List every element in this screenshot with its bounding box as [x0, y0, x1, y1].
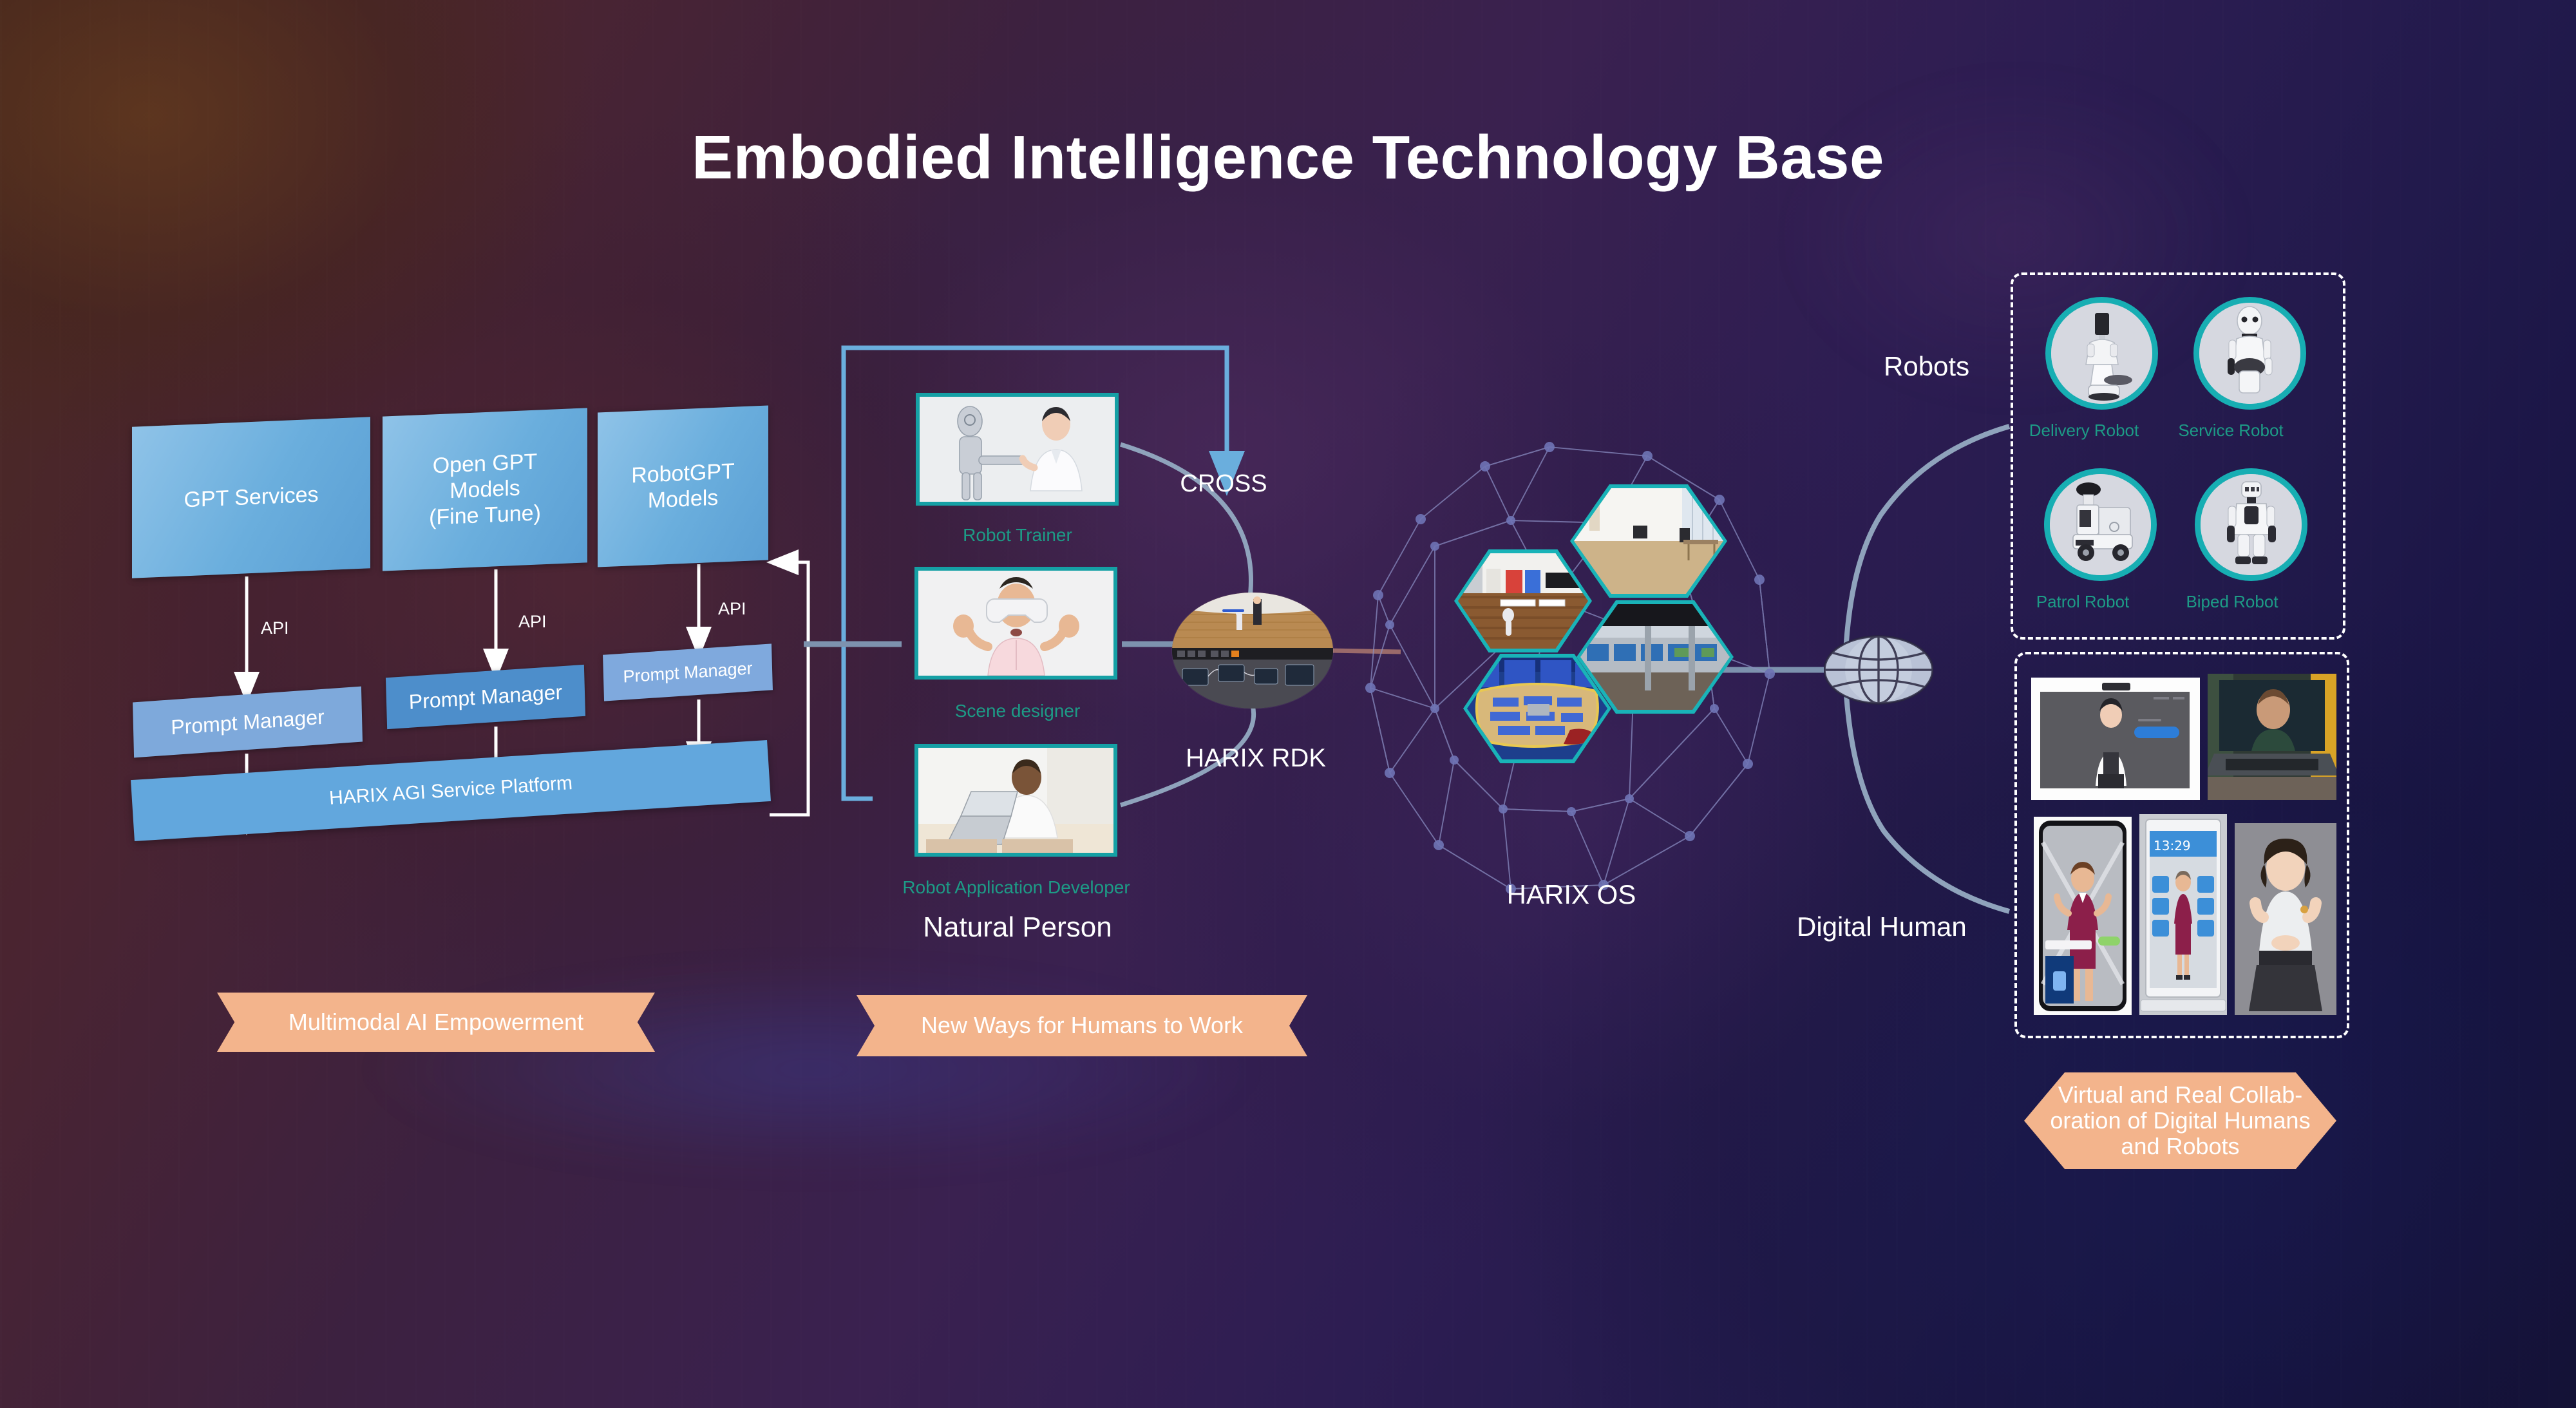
natural-person-group-label: Natural Person	[882, 911, 1153, 944]
svg-text:13:29: 13:29	[2154, 838, 2191, 853]
ribbon-multimodal-ai-empowerment[interactable]: Multimodal AI Empowerment	[217, 993, 655, 1052]
ribbon-virtual-real-collaboration[interactable]: Virtual and Real Collab- oration of Digi…	[2024, 1072, 2336, 1169]
robot-label-patrol-robot: Patrol Robot	[2005, 592, 2160, 612]
robot-thumb-patrol-robot[interactable]	[2044, 468, 2157, 581]
role-photo-robot-trainer[interactable]	[916, 393, 1119, 506]
source-box-gpt-services[interactable]: GPT Services	[132, 417, 370, 578]
digital-human-group-label: Digital Human	[1797, 911, 1967, 942]
globe-icon	[1824, 615, 1933, 725]
source-box-open-gpt-models[interactable]: Open GPT Models (Fine Tune)	[383, 408, 587, 571]
api-label: API	[518, 612, 547, 632]
api-label: API	[261, 618, 289, 638]
harix-os-label: HARIX OS	[1372, 879, 1771, 910]
dh-tile-casual-avatar[interactable]	[2235, 823, 2336, 1015]
role-label-scene-designer: Scene designer	[882, 701, 1153, 721]
source-label: GPT Services	[184, 482, 318, 513]
source-box-robotgpt-models[interactable]: RobotGPT Models	[598, 405, 768, 567]
prompt-manager-label: Prompt Manager	[171, 705, 325, 739]
role-label-robot-trainer: Robot Trainer	[882, 525, 1153, 546]
ribbon-text: Virtual and Real Collab- oration of Digi…	[2024, 1082, 2336, 1160]
ribbon-text: New Ways for Humans to Work	[921, 1013, 1243, 1038]
role-label-robot-application-developer: Robot Application Developer	[881, 877, 1151, 898]
prompt-manager-label: Prompt Manager	[623, 658, 753, 687]
dh-tile-standing-kiosk-avatar[interactable]: 13:29	[2139, 814, 2227, 1015]
robot-thumb-biped-robot[interactable]	[2195, 468, 2307, 581]
robot-label-delivery-robot: Delivery Robot	[2007, 421, 2161, 441]
slide-canvas: Embodied Intelligence Technology Base	[0, 0, 2576, 1408]
robots-group-label: Robots	[1884, 351, 1969, 382]
dh-tile-laptop-video-avatar[interactable]	[2208, 674, 2336, 800]
robot-thumb-service-robot[interactable]	[2193, 297, 2306, 410]
source-label: RobotGPT Models	[631, 459, 735, 515]
harix-rdk-screenshot[interactable]	[1172, 593, 1333, 709]
dh-tile-kiosk-screen-avatar[interactable]	[2031, 678, 2200, 800]
source-label: Open GPT Models (Fine Tune)	[429, 448, 541, 531]
robot-label-biped-robot: Biped Robot	[2155, 592, 2309, 612]
role-photo-robot-application-developer[interactable]	[914, 744, 1117, 857]
ribbon-new-ways-for-humans-to-work[interactable]: New Ways for Humans to Work	[857, 995, 1307, 1056]
role-photo-scene-designer[interactable]	[914, 567, 1117, 680]
dh-tile-phone-avatar[interactable]	[2034, 817, 2132, 1015]
api-label: API	[718, 599, 746, 619]
prompt-manager-label: Prompt Manager	[408, 680, 562, 714]
digital-human-panel: 13:29	[2014, 652, 2349, 1038]
robot-label-service-robot: Service Robot	[2154, 421, 2308, 441]
robot-thumb-delivery-robot[interactable]	[2045, 297, 2158, 410]
ribbon-text: Multimodal AI Empowerment	[289, 1009, 583, 1035]
robots-panel: Delivery Robot Service Robot	[2011, 272, 2345, 640]
cross-label: CROSS	[1095, 470, 1352, 498]
